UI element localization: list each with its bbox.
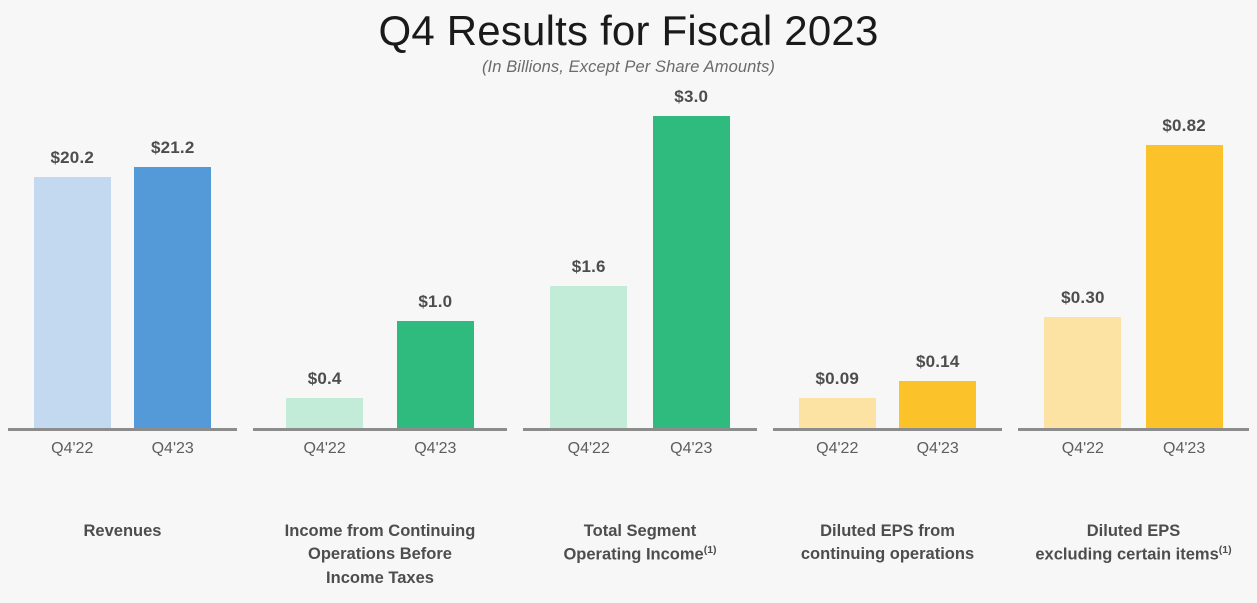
- bar-slot: $20.2: [34, 100, 111, 428]
- x-axis-tick-label: Q4'22: [1024, 440, 1141, 458]
- page-title: Q4 Results for Fiscal 2023: [0, 8, 1257, 54]
- bar-group-label: Total SegmentOperating Income(1): [515, 520, 765, 567]
- bar-slot: $1.6: [550, 100, 627, 428]
- bar-group-plot: $0.30$0.82: [1010, 100, 1257, 428]
- bar-value-label: $0.82: [1162, 116, 1206, 136]
- bar-group-list: Q4'22Q4'23$20.2$21.2RevenuesQ4'22Q4'23$0…: [0, 100, 1257, 603]
- chart-subtitle: (In Billions, Except Per Share Amounts): [0, 58, 1257, 77]
- bar-group-label: Income from ContinuingOperations BeforeI…: [245, 520, 515, 590]
- axis-baseline: [253, 428, 507, 431]
- bar-slot: $0.30: [1044, 100, 1121, 428]
- bar-value-label: $0.14: [916, 352, 960, 372]
- bar-value-label: $0.30: [1061, 288, 1105, 308]
- x-axis-tick-label: Q4'22: [779, 440, 896, 458]
- bar-group: Q4'22Q4'23$1.6$3.0Total SegmentOperating…: [515, 100, 765, 603]
- bar-group: Q4'22Q4'23$0.30$0.82Diluted EPSexcluding…: [1010, 100, 1257, 603]
- bar-value-label: $21.2: [151, 138, 195, 158]
- bar-slot: $1.0: [397, 100, 474, 428]
- bar-group-plot: $0.4$1.0: [245, 100, 515, 428]
- bar[interactable]: [653, 116, 730, 428]
- bar-slot: $3.0: [653, 100, 730, 428]
- x-axis-tick-label: Q4'23: [377, 440, 494, 458]
- bar[interactable]: [550, 286, 627, 428]
- axis-baseline: [8, 428, 237, 431]
- footnote-marker: (1): [704, 544, 717, 556]
- bar-value-label: $1.6: [572, 257, 606, 277]
- bar-group-label: Diluted EPS fromcontinuing operations: [765, 520, 1010, 567]
- bar-group: Q4'22Q4'23$0.09$0.14Diluted EPS fromcont…: [765, 100, 1010, 603]
- x-axis-tick-label: Q4'23: [1126, 440, 1243, 458]
- bar[interactable]: [134, 167, 211, 428]
- footnote-marker: (1): [1219, 544, 1232, 556]
- bar-value-label: $20.2: [50, 148, 94, 168]
- chart-root: Q4 Results for Fiscal 2023 (In Billions,…: [0, 0, 1257, 603]
- bar[interactable]: [1146, 145, 1223, 428]
- x-axis-tick-label: Q4'23: [879, 440, 996, 458]
- axis-baseline: [1018, 428, 1249, 431]
- bar-slot: $0.4: [286, 100, 363, 428]
- bar-group-label: Diluted EPSexcluding certain items(1): [1010, 520, 1257, 567]
- bar[interactable]: [286, 398, 363, 428]
- bar-slot: $0.82: [1146, 100, 1223, 428]
- axis-baseline: [773, 428, 1002, 431]
- bar[interactable]: [34, 177, 111, 428]
- bar-group: Q4'22Q4'23$0.4$1.0Income from Continuing…: [245, 100, 515, 603]
- x-axis-tick-label: Q4'23: [633, 440, 750, 458]
- x-axis-tick-label: Q4'22: [266, 440, 383, 458]
- bar-value-label: $1.0: [418, 292, 452, 312]
- x-axis-tick-label: Q4'22: [530, 440, 647, 458]
- axis-baseline: [523, 428, 757, 431]
- bar-value-label: $0.09: [815, 369, 859, 389]
- bar-group: Q4'22Q4'23$20.2$21.2Revenues: [0, 100, 245, 603]
- x-axis-tick-label: Q4'22: [14, 440, 131, 458]
- bar-slot: $0.14: [899, 100, 976, 428]
- bar[interactable]: [799, 398, 876, 428]
- bar-group-plot: $1.6$3.0: [515, 100, 765, 428]
- bar-group-label: Revenues: [0, 520, 245, 543]
- bar-slot: $21.2: [134, 100, 211, 428]
- bar[interactable]: [397, 321, 474, 428]
- bar-value-label: $0.4: [308, 369, 342, 389]
- bar[interactable]: [1044, 317, 1121, 428]
- bar-slot: $0.09: [799, 100, 876, 428]
- bar-group-plot: $0.09$0.14: [765, 100, 1010, 428]
- x-axis-tick-label: Q4'23: [114, 440, 231, 458]
- bar[interactable]: [899, 381, 976, 428]
- bar-value-label: $3.0: [674, 87, 708, 107]
- bar-group-plot: $20.2$21.2: [0, 100, 245, 428]
